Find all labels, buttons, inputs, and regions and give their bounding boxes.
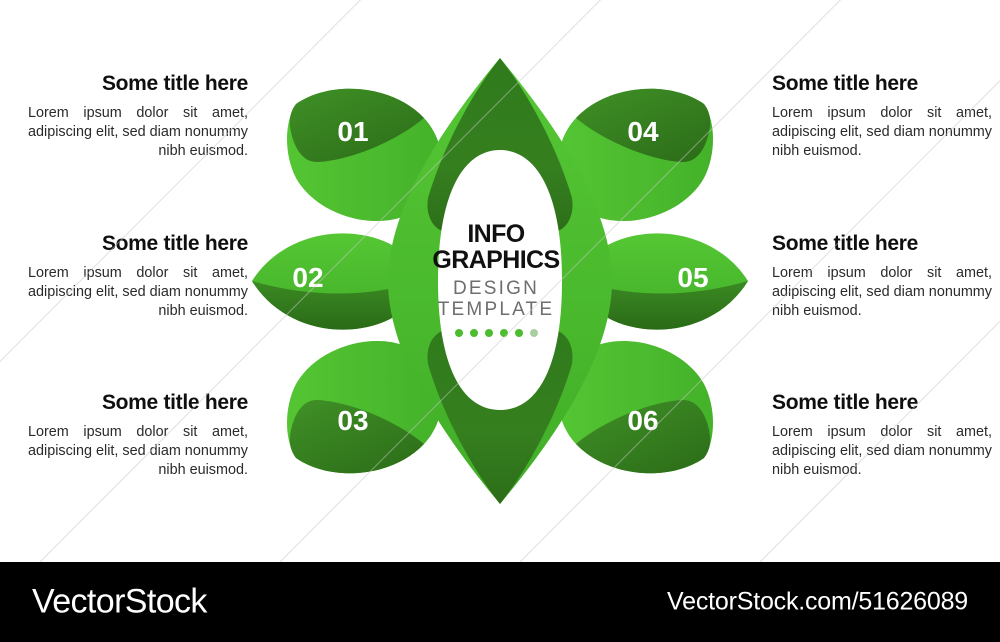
text-block-01: Some title here Lorem ipsum dolor sit am… <box>28 72 248 162</box>
text-body-01: Lorem ipsum dolor sit amet, adipiscing e… <box>28 104 248 161</box>
text-block-02: Some title here Lorem ipsum dolor sit am… <box>28 232 248 322</box>
dot-1 <box>455 329 463 337</box>
footer-brand: VectorStock <box>32 583 207 622</box>
text-title-03: Some title here <box>28 391 248 414</box>
leaf-number-05: 05 <box>663 262 723 294</box>
text-body-02: Lorem ipsum dolor sit amet, adipiscing e… <box>28 264 248 321</box>
text-title-05: Some title here <box>772 232 992 255</box>
text-body-06: Lorem ipsum dolor sit amet, adipiscing e… <box>772 423 992 480</box>
dot-6 <box>530 329 538 337</box>
center-dot-row <box>418 329 574 337</box>
leaf-number-01: 01 <box>323 116 383 148</box>
text-block-03: Some title here Lorem ipsum dolor sit am… <box>28 391 248 481</box>
leaf-number-06: 06 <box>613 405 673 437</box>
center-label: INFO GRAPHICS DESIGN TEMPLATE <box>418 222 574 337</box>
infographic-canvas: 01 02 03 04 05 06 INFO GRAPHICS DESIGN T… <box>0 0 1000 562</box>
leaf-number-03: 03 <box>323 405 383 437</box>
text-body-03: Lorem ipsum dolor sit amet, adipiscing e… <box>28 423 248 480</box>
dot-4 <box>500 329 508 337</box>
footer-url: VectorStock.com/51626089 <box>667 588 968 617</box>
text-title-06: Some title here <box>772 391 992 414</box>
text-title-01: Some title here <box>28 72 248 95</box>
text-block-05: Some title here Lorem ipsum dolor sit am… <box>772 232 992 322</box>
footer-bar: VectorStock VectorStock.com/51626089 <box>0 562 1000 642</box>
dot-5 <box>515 329 523 337</box>
text-title-04: Some title here <box>772 72 992 95</box>
text-block-06: Some title here Lorem ipsum dolor sit am… <box>772 391 992 481</box>
center-subtitle-line1: DESIGN <box>418 278 574 299</box>
text-body-05: Lorem ipsum dolor sit amet, adipiscing e… <box>772 264 992 321</box>
text-block-04: Some title here Lorem ipsum dolor sit am… <box>772 72 992 162</box>
center-subtitle-line2: TEMPLATE <box>418 299 574 320</box>
text-body-04: Lorem ipsum dolor sit amet, adipiscing e… <box>772 104 992 161</box>
dot-3 <box>485 329 493 337</box>
leaf-number-02: 02 <box>278 262 338 294</box>
center-title-line2: GRAPHICS <box>418 248 574 274</box>
text-title-02: Some title here <box>28 232 248 255</box>
dot-2 <box>470 329 478 337</box>
leaf-number-04: 04 <box>613 116 673 148</box>
center-title-line1: INFO <box>418 222 574 248</box>
